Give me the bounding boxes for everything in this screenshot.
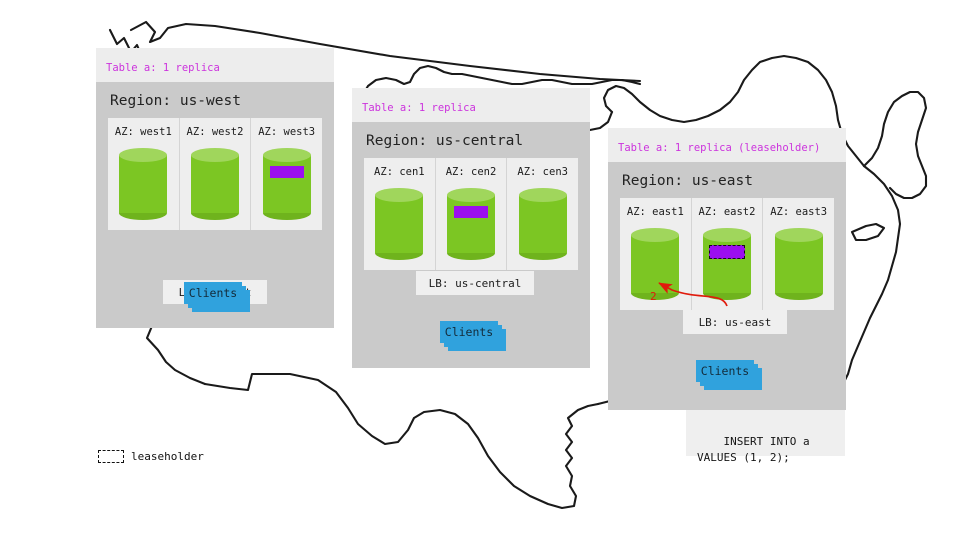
clients-label: Clients: [189, 286, 237, 300]
region-name: Region: us-east: [608, 162, 846, 198]
node-cylinder-east2[interactable]: [703, 228, 751, 300]
cylinder-body: [631, 235, 679, 293]
node-cylinder-cen1[interactable]: [375, 188, 423, 260]
cylinder-top: [631, 228, 679, 242]
az-label: AZ: cen1: [374, 166, 425, 178]
cylinder-body: [447, 195, 495, 253]
diagram-canvas: Table a: 1 replica Region: us-west AZ: w…: [0, 0, 960, 540]
region-name: Region: us-central: [352, 122, 590, 158]
az-row: AZ: west1 AZ: west2 AZ: west3: [108, 118, 322, 230]
az-label: AZ: cen2: [446, 166, 497, 178]
az-label: AZ: west2: [187, 126, 244, 138]
region-titlebar: Table a: 1 replica: [352, 88, 590, 122]
region-titlebar: Table a: 1 replica: [96, 48, 334, 82]
node-cylinder-cen2[interactable]: [447, 188, 495, 260]
range-leaseholder-marker: [709, 245, 745, 259]
region-titlebar: Table a: 1 replica (leaseholder): [608, 128, 846, 162]
az-label: AZ: west3: [258, 126, 315, 138]
node-cylinder-east3[interactable]: [775, 228, 823, 300]
cylinder-top: [703, 228, 751, 242]
cylinder-body: [263, 155, 311, 213]
sql-statement-box: INSERT INTO a VALUES (1, 2);: [686, 410, 845, 456]
cylinder-body: [703, 235, 751, 293]
az-label: AZ: west1: [115, 126, 172, 138]
clients-button[interactable]: Clients: [696, 360, 754, 382]
lb-label: LB: us-central: [429, 277, 522, 290]
az-label: AZ: east2: [699, 206, 756, 218]
az-cell-cen2[interactable]: AZ: cen2: [436, 158, 508, 270]
cylinder-body: [375, 195, 423, 253]
az-cell-east2[interactable]: AZ: east2: [692, 198, 764, 310]
az-cell-cen1[interactable]: AZ: cen1: [364, 158, 436, 270]
cylinder-top: [375, 188, 423, 202]
az-cell-west1[interactable]: AZ: west1: [108, 118, 180, 230]
clients-button[interactable]: Clients: [440, 321, 498, 343]
node-cylinder-west2[interactable]: [191, 148, 239, 220]
legend: leaseholder: [98, 450, 204, 463]
region-panel-us-east: Table a: 1 replica (leaseholder) Region:…: [608, 128, 846, 410]
clients-button[interactable]: Clients: [184, 282, 242, 304]
region-panel-us-central: Table a: 1 replica Region: us-central AZ…: [352, 88, 590, 368]
az-label: AZ: cen3: [517, 166, 568, 178]
lb-label: LB: us-east: [699, 316, 772, 329]
range-replica-marker: [454, 206, 488, 218]
cylinder-top: [119, 148, 167, 162]
cylinder-body: [519, 195, 567, 253]
az-row: AZ: cen1 AZ: cen2 AZ: cen3: [364, 158, 578, 270]
clients-stack-us-central[interactable]: Clients: [440, 321, 506, 353]
node-cylinder-west3[interactable]: [263, 148, 311, 220]
load-balancer-us-central[interactable]: LB: us-central: [416, 271, 534, 295]
az-cell-cen3[interactable]: AZ: cen3: [507, 158, 578, 270]
az-label: AZ: east1: [627, 206, 684, 218]
replica-label: Table a: 1 replica: [106, 62, 220, 74]
arrow-label: 2: [650, 290, 657, 303]
region-panel-us-west: Table a: 1 replica Region: us-west AZ: w…: [96, 48, 334, 328]
clients-stack-us-west[interactable]: Clients: [184, 282, 250, 314]
clients-label: Clients: [445, 325, 493, 339]
range-replica-marker: [270, 166, 304, 178]
cylinder-top: [191, 148, 239, 162]
region-name: Region: us-west: [96, 82, 334, 118]
clients-stack-us-east[interactable]: Clients: [696, 360, 762, 392]
clients-label: Clients: [701, 364, 749, 378]
az-cell-east3[interactable]: AZ: east3: [763, 198, 834, 310]
cylinder-body: [191, 155, 239, 213]
replica-label: Table a: 1 replica (leaseholder): [618, 142, 820, 154]
cylinder-top: [775, 228, 823, 242]
replica-label: Table a: 1 replica: [362, 102, 476, 114]
node-cylinder-cen3[interactable]: [519, 188, 567, 260]
az-cell-west3[interactable]: AZ: west3: [251, 118, 322, 230]
legend-label: leaseholder: [131, 450, 204, 463]
cylinder-body: [775, 235, 823, 293]
cylinder-top: [447, 188, 495, 202]
az-label: AZ: east3: [770, 206, 827, 218]
dashed-rect-icon: [98, 450, 124, 463]
node-cylinder-west1[interactable]: [119, 148, 167, 220]
cylinder-top: [519, 188, 567, 202]
load-balancer-us-east[interactable]: LB: us-east: [683, 310, 787, 334]
cylinder-top: [263, 148, 311, 162]
az-cell-west2[interactable]: AZ: west2: [180, 118, 252, 230]
cylinder-body: [119, 155, 167, 213]
